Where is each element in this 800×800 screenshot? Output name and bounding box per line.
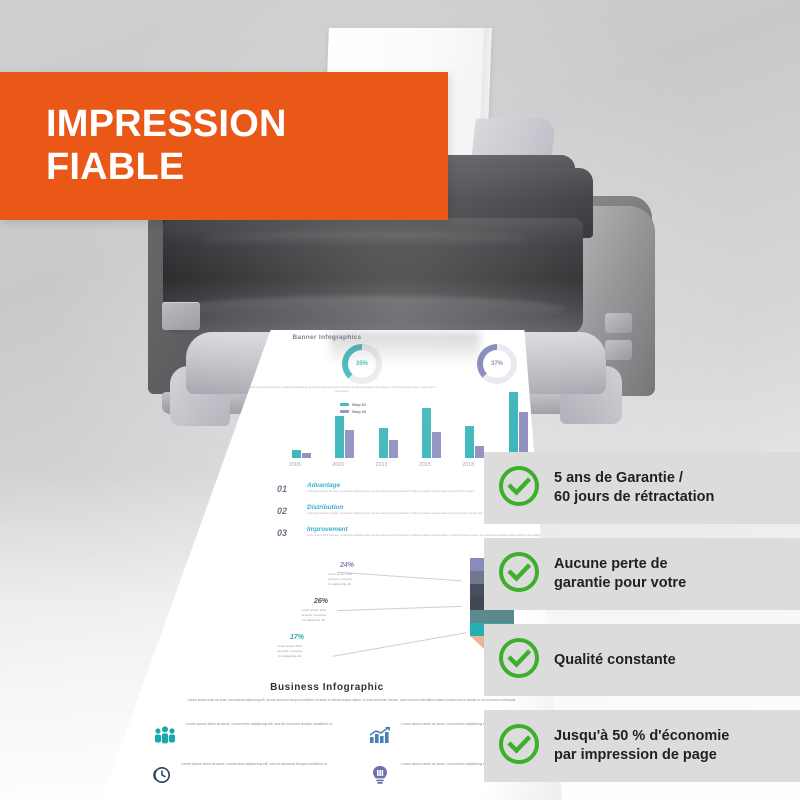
panel-highlight-bottom: [175, 296, 565, 322]
feature-box-constant-quality[interactable]: Qualité constante: [484, 624, 800, 696]
paper-curl-shadow: [330, 332, 480, 366]
feature-label: Jusqu'à 50 % d'économie par impression d…: [554, 727, 729, 765]
donut-chart-2: 37%: [477, 344, 517, 384]
panel-highlight-top: [200, 232, 530, 246]
promo-banner-image: Banner Infographics 35% 37% Lorem ipsum …: [0, 0, 800, 800]
feature-label: Qualité constante: [554, 651, 676, 670]
printer-right-button-1[interactable]: [605, 313, 632, 333]
feature-box-savings[interactable]: Jusqu'à 50 % d'économie par impression d…: [484, 710, 800, 782]
headline-line-2: FIABLE: [46, 146, 448, 189]
headline-line-1: IMPRESSION: [46, 103, 448, 146]
printer-left-button[interactable]: [162, 302, 200, 330]
feature-label: 5 ans de Garantie / 60 jours de rétracta…: [554, 469, 714, 507]
headline-banner: IMPRESSION FIABLE: [0, 72, 448, 220]
printer-right-button-2[interactable]: [605, 340, 632, 360]
feature-box-no-warranty-loss[interactable]: Aucune perte de garantie pour votre: [484, 538, 800, 610]
check-circle-icon: [498, 637, 540, 684]
check-circle-icon: [498, 551, 540, 598]
feature-box-warranty[interactable]: 5 ans de Garantie / 60 jours de rétracta…: [484, 452, 800, 524]
check-circle-icon: [498, 723, 540, 770]
donut-chart-2-value: 37%: [477, 344, 517, 384]
check-circle-icon: [498, 465, 540, 512]
feature-label: Aucune perte de garantie pour votre: [554, 555, 686, 593]
